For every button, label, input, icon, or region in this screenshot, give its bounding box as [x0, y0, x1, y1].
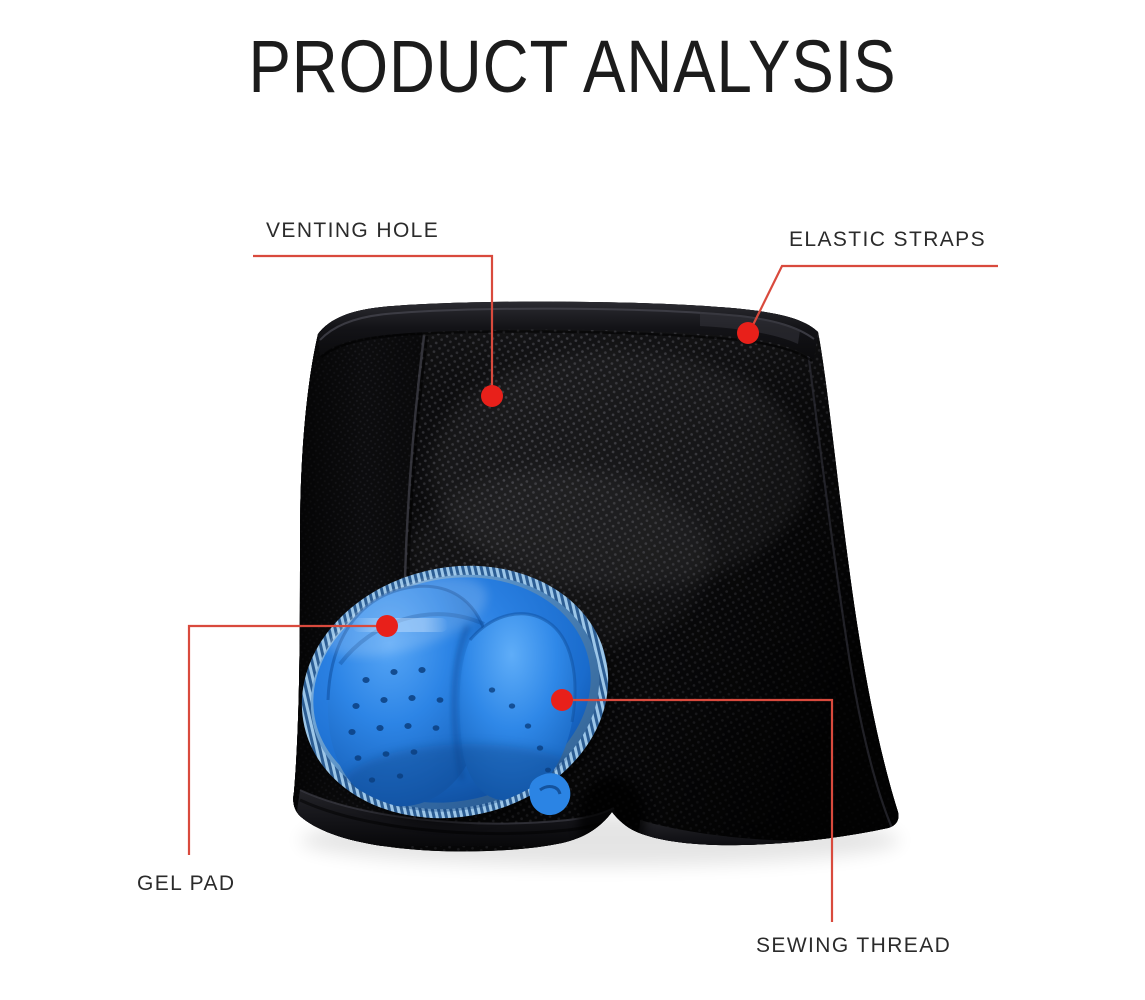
marker-elastic-straps [737, 322, 759, 344]
marker-sewing-thread [551, 689, 573, 711]
callout-leader-lines [0, 0, 1145, 1000]
leader-sewing-thread [551, 689, 832, 922]
leader-gel-pad [189, 615, 398, 855]
infographic-canvas: PRODUCT ANALYSIS [0, 0, 1145, 1000]
leader-elastic-straps [737, 266, 998, 344]
leader-venting-hole [253, 256, 503, 407]
marker-venting-hole [481, 385, 503, 407]
marker-gel-pad [376, 615, 398, 637]
